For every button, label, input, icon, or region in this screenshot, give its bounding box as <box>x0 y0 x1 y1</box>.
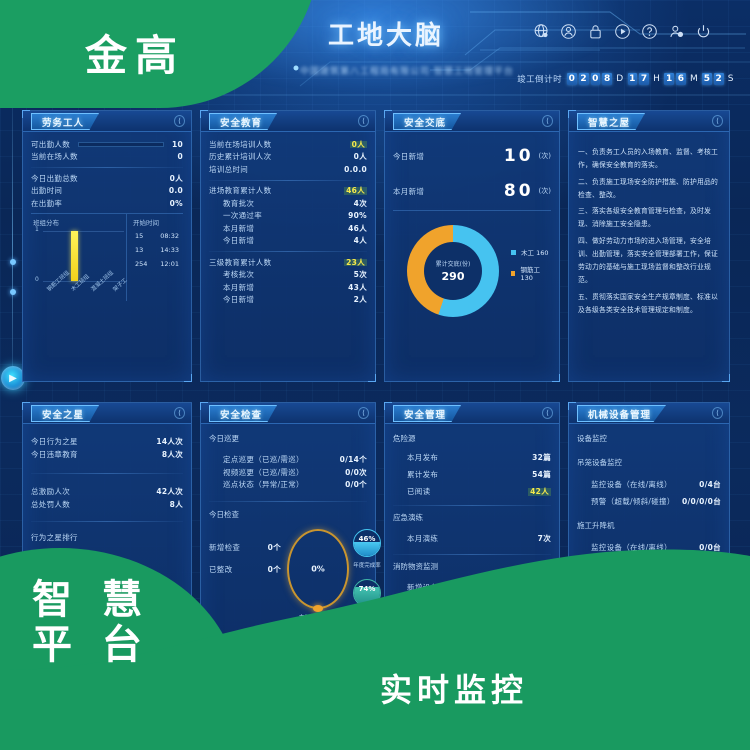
panel-title-wisdom: 智慧之屋 <box>577 113 645 130</box>
record-list: 15 08:32 13 14:33 254 12:01 <box>133 229 181 271</box>
panel-header: 安全之星 ⟨ <box>23 403 191 424</box>
divider <box>209 501 367 502</box>
table-row: 当前在场培训人数 0人 <box>209 138 367 151</box>
row-label: 今日行为之星 <box>31 438 78 446</box>
rail-line <box>12 104 13 384</box>
row-value: 0人 <box>170 175 183 183</box>
countdown-hour-digit-2: 7 <box>639 73 649 85</box>
panel-body: 今日新增 10 (次) 本月新增 80 (次) <box>385 132 559 342</box>
row-label: 在出勤率 <box>31 200 62 208</box>
row-value: 42人 <box>528 488 551 496</box>
note-item-4: 四、做好劳动力市场的进入场管理，安全培训、出勤管理，落实安全管理部署工作，保证劳… <box>578 235 720 288</box>
table-row: 今日新增 10 (次) <box>393 138 551 167</box>
countdown-unit-day: D <box>616 74 623 84</box>
panel-body: 可出勤人数 10 当前在场人数 0 今日出勤总数 0人 出勤时间 0.0 <box>23 132 191 307</box>
row-value: 8人次 <box>162 451 183 459</box>
donut-legend: 木工 160 钢筋工 130 <box>511 247 551 289</box>
row-label: 考核批次 <box>209 271 254 279</box>
list-caption: 开始时间 <box>133 217 181 227</box>
panel-labor-workers: 劳务工人 ⟨ 可出勤人数 10 当前在场人数 0 今日出勤总数 0人 <box>22 110 192 382</box>
row-label: 今日新增 <box>393 153 424 161</box>
row-value: 0人 <box>354 153 367 161</box>
row-label: 总激励人次 <box>31 488 70 496</box>
row-label: 本月新增 <box>209 284 254 292</box>
row-label: 培训总时间 <box>209 166 248 174</box>
table-row: 培训总时间 0.0.0 <box>209 163 367 176</box>
row-value: 23人 <box>344 259 367 267</box>
row-value: 42人次 <box>156 488 183 496</box>
note-item-2: 二、负责施工现场安全防护措施、防护用品的检查、整改。 <box>578 176 720 203</box>
y-tick-0: 0 <box>35 276 39 283</box>
record-number: 13 <box>135 246 143 254</box>
row-value: 2人 <box>354 296 367 304</box>
rail-dot-1 <box>10 259 16 265</box>
row-label: 本月发布 <box>393 454 438 462</box>
row-label: 今日新增 <box>209 296 254 304</box>
chart-caption: 班组分布 <box>33 217 124 227</box>
panel-title-education: 安全教育 <box>209 113 277 130</box>
table-row: 进场教育累计人数 46人 <box>209 185 367 198</box>
panel-collapse-icon[interactable]: ⟨ <box>542 115 553 127</box>
donut-ring: 累计交底(份) 290 <box>407 225 499 317</box>
countdown-second-digit-1: 5 <box>702 73 712 85</box>
today-value: 10 <box>504 148 534 165</box>
panel-collapse-icon[interactable]: ⟨ <box>542 407 553 419</box>
row-label: 预警（超载/倾斜/碰撞） <box>577 498 675 506</box>
add-user-icon[interactable] <box>668 23 685 40</box>
note-item-3: 三、落实各级安全教育管理与检查，及时发现、消除施工安全隐患。 <box>578 205 720 232</box>
legend-item: 钢筋工 130 <box>511 264 551 282</box>
row-value: 0/4台 <box>699 481 721 489</box>
legend-swatch-mugong <box>511 250 516 255</box>
row-label: 今日违章教育 <box>31 451 78 459</box>
record-number: 15 <box>135 232 143 240</box>
row-value: 0% <box>170 200 183 208</box>
disclosure-donut-chart: 累计交底(份) 290 木工 160 钢筋工 130 <box>393 210 551 336</box>
row-value: 46人 <box>348 225 367 233</box>
group-title-hoist: 吊笼设备监控 <box>577 447 721 471</box>
panel-title-disclosure: 安全交底 <box>393 113 461 130</box>
table-row: 本月新增 43人 <box>209 281 367 294</box>
month-unit: (次) <box>539 188 551 195</box>
panel-collapse-icon[interactable]: ⟨ <box>712 115 723 127</box>
row-label: 监控设备（在线/离线） <box>577 481 672 489</box>
table-row: 历史累计培训人次 0人 <box>209 151 367 164</box>
row-label: 当前在场人数 <box>31 153 78 161</box>
left-rail: ▶ <box>7 104 18 404</box>
panel-safety-disclosure: 安全交底 ⟨ 今日新增 10 (次) 本月新增 80 (次) <box>384 110 560 382</box>
table-row: 累计发布 54篇 <box>393 464 551 481</box>
countdown-day-digit-3: 0 <box>591 73 601 85</box>
row-value: 4人 <box>354 237 367 245</box>
panel-title-equipment: 机械设备管理 <box>577 405 666 422</box>
row-value: 43人 <box>348 284 367 292</box>
brand-badge-text: 金高 <box>85 22 185 83</box>
row-value: 54篇 <box>532 471 551 479</box>
panel-header: 安全检查 ⟨ <box>201 403 375 424</box>
panel-body: 当前在场培训人数 0人 历史累计培训人次 0人 培训总时间 0.0.0 进场教育… <box>201 132 375 312</box>
table-row: 今日新增 4人 <box>209 235 367 248</box>
row-label: 三级教育累计人数 <box>209 259 271 267</box>
panel-header: 机械设备管理 ⟨ <box>569 403 729 424</box>
table-row: 在出勤率 0% <box>31 197 183 210</box>
table-row: 当前在场人数 0 <box>31 151 183 164</box>
header-icon-bar <box>533 23 712 40</box>
help-icon[interactable] <box>641 23 658 40</box>
panel-header: 劳务工人 ⟨ <box>23 111 191 132</box>
record-time: 12:01 <box>160 260 179 268</box>
row-label: 进场教育累计人数 <box>209 187 271 195</box>
table-row: 监控设备（在线/离线） 0/4台 <box>577 471 721 491</box>
legend-label: 木工 160 <box>521 247 548 257</box>
row-label: 视频巡更（已巡/需巡） <box>209 469 304 477</box>
list-item: 254 12:01 <box>133 257 181 271</box>
countdown-unit-minute: M <box>690 74 698 84</box>
completion-countdown: 竣工倒计时 0 2 0 8 D 1 7 H 1 6 M 5 2 S <box>517 73 736 85</box>
row-label: 一次通过率 <box>209 212 262 220</box>
panel-body: 一、负责务工人员的入场教育、监督、考核工作，确保安全教育的落实。 二、负责施工现… <box>569 132 729 334</box>
record-number: 254 <box>135 260 147 268</box>
row-value: 8人 <box>170 501 183 509</box>
row-label: 巡点状态（异常/正常） <box>209 481 304 489</box>
y-tick-1: 1 <box>35 226 39 233</box>
countdown-second-digit-2: 2 <box>714 73 724 85</box>
table-row: 出勤时间 0.0 <box>31 185 183 198</box>
panel-title-management: 安全管理 <box>393 405 461 422</box>
table-row: 今日违章教育 8人次 <box>31 448 183 461</box>
today-unit: (次) <box>539 153 551 160</box>
row-label: 教育批次 <box>209 200 254 208</box>
table-row: 已阅读 42人 <box>393 481 551 498</box>
countdown-day-digit-4: 8 <box>602 73 612 85</box>
legend-label: 钢筋工 130 <box>520 264 551 282</box>
bar-crew-2 <box>71 231 78 281</box>
table-row: 预警（超载/倾斜/碰撞） 0/0/0/0台 <box>577 491 721 508</box>
divider <box>209 180 367 181</box>
panel-title-inspection: 安全检查 <box>209 405 277 422</box>
donut-caption: 累计交底(份) <box>436 259 471 268</box>
panel-safety-education: 安全教育 ⟨ 当前在场培训人数 0人 历史累计培训人次 0人 培训总时间 0.0… <box>200 110 376 382</box>
legend-swatch-gangjin <box>511 271 515 276</box>
row-label: 本月新增 <box>209 225 254 233</box>
x-label-3: 架子工 <box>111 275 129 292</box>
divider <box>31 473 183 474</box>
record-time: 14:33 <box>160 246 179 254</box>
row-label: 历史累计培训人次 <box>209 153 271 161</box>
month-value: 80 <box>504 183 534 200</box>
panel-header: 安全管理 ⟨ <box>385 403 559 424</box>
attendance-progress-bar <box>78 142 164 147</box>
panel-header: 智慧之屋 ⟨ <box>569 111 729 132</box>
row-value: 90% <box>348 212 367 220</box>
panel-collapse-icon[interactable]: ⟨ <box>174 407 185 419</box>
brand-name: 智 慧 平 台 <box>32 578 150 668</box>
countdown-unit-second: S <box>728 74 734 84</box>
x-axis-labels: 钢筋工班组 木工班组 混凝土班组 架子工 <box>43 287 124 303</box>
table-row: 考核批次 5次 <box>209 269 367 282</box>
play-icon[interactable] <box>614 23 631 40</box>
power-icon[interactable] <box>695 23 712 40</box>
divider <box>393 505 551 506</box>
row-label: 累计发布 <box>393 471 438 479</box>
group-title-patrol: 今日巡更 <box>209 430 367 447</box>
panel-collapse-icon[interactable]: ⟨ <box>174 115 185 127</box>
legend-item: 木工 160 <box>511 247 551 257</box>
panel-title-labor: 劳务工人 <box>31 113 99 130</box>
panel-collapse-icon[interactable]: ⟨ <box>358 115 369 127</box>
list-item: 15 08:32 <box>133 229 181 243</box>
panel-collapse-icon[interactable]: ⟨ <box>712 407 723 419</box>
table-row: 巡点状态（异常/正常） 0/0个 <box>209 479 367 492</box>
rail-dot-2 <box>10 289 16 295</box>
note-item-5: 五、贯彻落实国家安全生产规章制度、标准以及各级各类安全技术管理规定和制度。 <box>578 291 720 318</box>
labor-chart-split: 班组分布 1 0 钢筋工班组 木工班组 混凝土班组 架子工 <box>31 213 183 301</box>
screenshot-root: 工地大脑 中国建筑第八工程局有限公司·智慧工地管理平台 <box>0 0 750 750</box>
panel-header: 安全交底 ⟨ <box>385 111 559 132</box>
panel-wisdom-house: 智慧之屋 ⟨ 一、负责务工人员的入场教育、监督、考核工作，确保安全教育的落实。 … <box>568 110 730 382</box>
crew-bar-chart: 班组分布 1 0 钢筋工班组 木工班组 混凝土班组 架子工 <box>31 214 127 301</box>
note-item-1: 一、负责务工人员的入场教育、监督、考核工作，确保安全教育的落实。 <box>578 146 720 173</box>
brand-name-line1: 智 慧 <box>32 578 150 623</box>
countdown-label: 竣工倒计时 <box>517 73 562 85</box>
table-row: 视频巡更（已巡/需巡） 0/0次 <box>209 466 367 479</box>
row-value: 0/0个 <box>345 481 367 489</box>
row-label: 当前在场培训人数 <box>209 141 271 149</box>
row-value: 0.0.0 <box>344 166 367 174</box>
list-item: 13 14:33 <box>133 243 181 257</box>
countdown-unit-hour: H <box>653 74 660 84</box>
brand-name-line2: 平 台 <box>32 623 150 668</box>
row-value: 0 <box>177 153 183 161</box>
row-value: 10 <box>172 141 183 149</box>
labor-record-list: 开始时间 15 08:32 13 14:33 254 <box>127 214 183 301</box>
row-value: 0人 <box>350 141 367 149</box>
row-value: 0.0 <box>169 187 183 195</box>
bar-chart-plot: 1 0 钢筋工班组 木工班组 混凝土班组 架子工 <box>43 229 124 301</box>
divider <box>209 251 367 252</box>
globe-icon[interactable] <box>533 23 550 40</box>
row-value: 32篇 <box>532 454 551 462</box>
page-title: 工地大脑 <box>328 15 444 52</box>
table-row: 本月新增 80 (次) <box>393 167 551 208</box>
month-count: 80 (次) <box>504 183 551 200</box>
table-row: 教育批次 4次 <box>209 197 367 210</box>
row-label: 出勤时间 <box>31 187 62 195</box>
brand-tagline: 实时监控 <box>380 665 528 711</box>
panel-title-star: 安全之星 <box>31 405 99 422</box>
row-label: 本月新增 <box>393 188 424 196</box>
row-value: 5次 <box>354 271 367 279</box>
row-value: 4次 <box>354 200 367 208</box>
group-title-hazard: 危险源 <box>393 430 551 447</box>
table-row: 总激励人次 42人次 <box>31 486 183 499</box>
table-row: 今日新增 2人 <box>209 294 367 307</box>
table-row: 可出勤人数 10 <box>31 138 183 151</box>
panel-collapse-icon[interactable]: ⟨ <box>358 407 369 419</box>
lock-icon[interactable] <box>587 23 604 40</box>
row-label: 今日新增 <box>209 237 254 245</box>
row-value: 0/0次 <box>345 469 367 477</box>
countdown-day-digit-2: 2 <box>579 73 589 85</box>
countdown-minute-digit-1: 1 <box>664 73 674 85</box>
divider <box>31 167 183 168</box>
table-row: 本月发布 32篇 <box>393 447 551 464</box>
row-label: 今日出勤总数 <box>31 175 78 183</box>
row-value: 0/14个 <box>340 456 367 464</box>
row-value: 0/0/0/0台 <box>682 498 721 506</box>
today-count: 10 (次) <box>504 148 551 165</box>
table-row: 今日出勤总数 0人 <box>31 172 183 185</box>
row-value: 46人 <box>344 187 367 195</box>
table-row: 定点巡更（已巡/需巡） 0/14个 <box>209 447 367 466</box>
table-row: 本月新增 46人 <box>209 222 367 235</box>
donut-center: 累计交底(份) 290 <box>424 242 482 300</box>
group-title-device-monitor: 设备监控 <box>577 430 721 447</box>
row-label: 可出勤人数 <box>31 141 70 149</box>
countdown-hour-digit-1: 1 <box>628 73 638 85</box>
countdown-day-digit-1: 0 <box>567 73 577 85</box>
table-row: 一次通过率 90% <box>209 210 367 223</box>
table-row: 三级教育累计人数 23人 <box>209 256 367 269</box>
row-label: 已阅读 <box>393 488 430 496</box>
row-label: 定点巡更（已巡/需巡） <box>209 456 304 464</box>
table-row: 总处罚人数 8人 <box>31 498 183 511</box>
donut-total: 290 <box>442 270 465 283</box>
panel-header: 安全教育 ⟨ <box>201 111 375 132</box>
table-row: 今日行为之星 14人次 <box>31 430 183 448</box>
row-label: 总处罚人数 <box>31 501 70 509</box>
countdown-minute-digit-2: 6 <box>676 73 686 85</box>
row-value: 14人次 <box>156 438 183 446</box>
record-time: 08:32 <box>160 232 179 240</box>
user-icon[interactable] <box>560 23 577 40</box>
